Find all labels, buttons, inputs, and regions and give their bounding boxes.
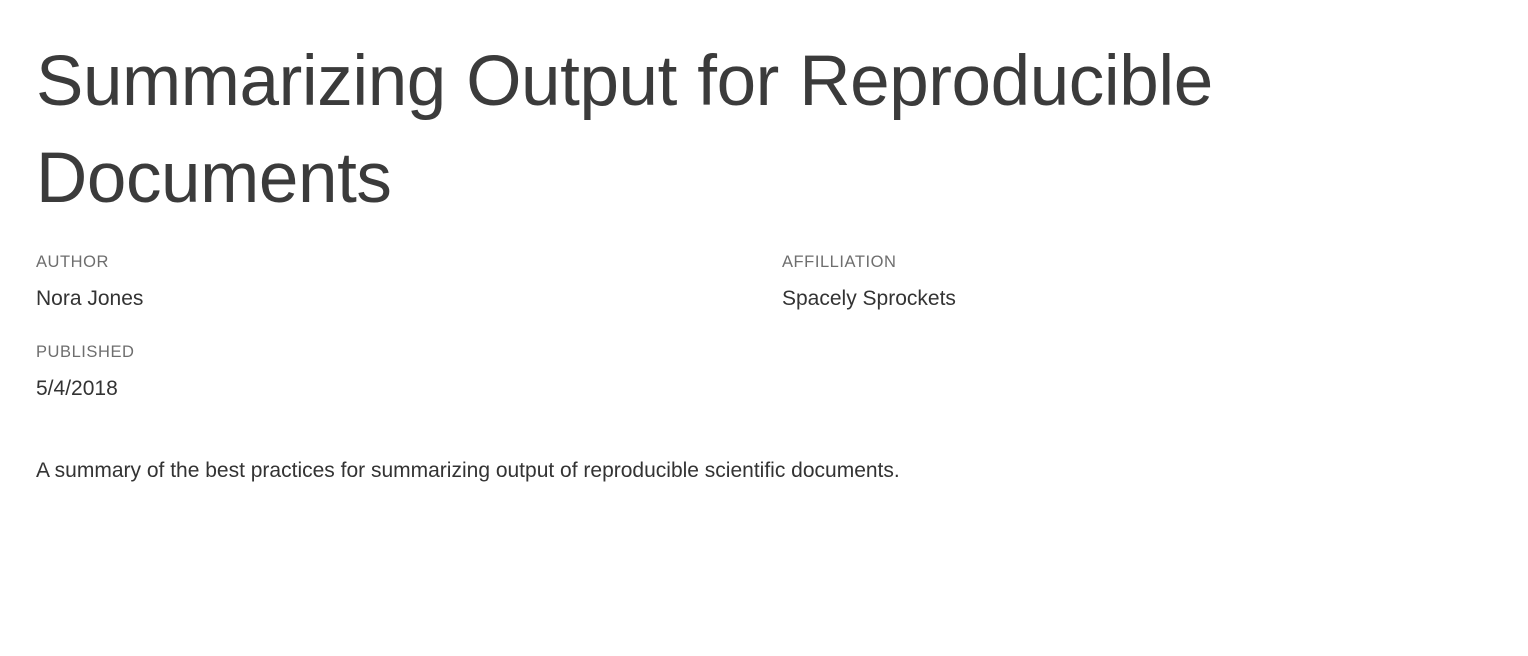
metadata-value-affilliation: Spacely Sprockets — [782, 285, 1492, 312]
metadata-field-affilliation: AFFILLIATION Spacely Sprockets — [782, 251, 1492, 313]
title-block-header: Summarizing Output for Reproducible Docu… — [36, 34, 1492, 487]
metadata-label-author: AUTHOR — [36, 251, 782, 273]
document-abstract: A summary of the best practices for summ… — [36, 456, 1416, 486]
document-metadata-grid: AUTHOR Nora Jones AFFILLIATION Spacely S… — [36, 251, 1492, 402]
metadata-label-affilliation: AFFILLIATION — [782, 251, 1492, 273]
metadata-value-published: 5/4/2018 — [36, 375, 782, 402]
document-header: Summarizing Output for Reproducible Docu… — [0, 0, 1528, 656]
page-title: Summarizing Output for Reproducible Docu… — [36, 34, 1326, 227]
metadata-field-published: PUBLISHED 5/4/2018 — [36, 341, 782, 403]
metadata-value-author: Nora Jones — [36, 285, 782, 312]
metadata-field-author: AUTHOR Nora Jones — [36, 251, 782, 313]
metadata-label-published: PUBLISHED — [36, 341, 782, 363]
